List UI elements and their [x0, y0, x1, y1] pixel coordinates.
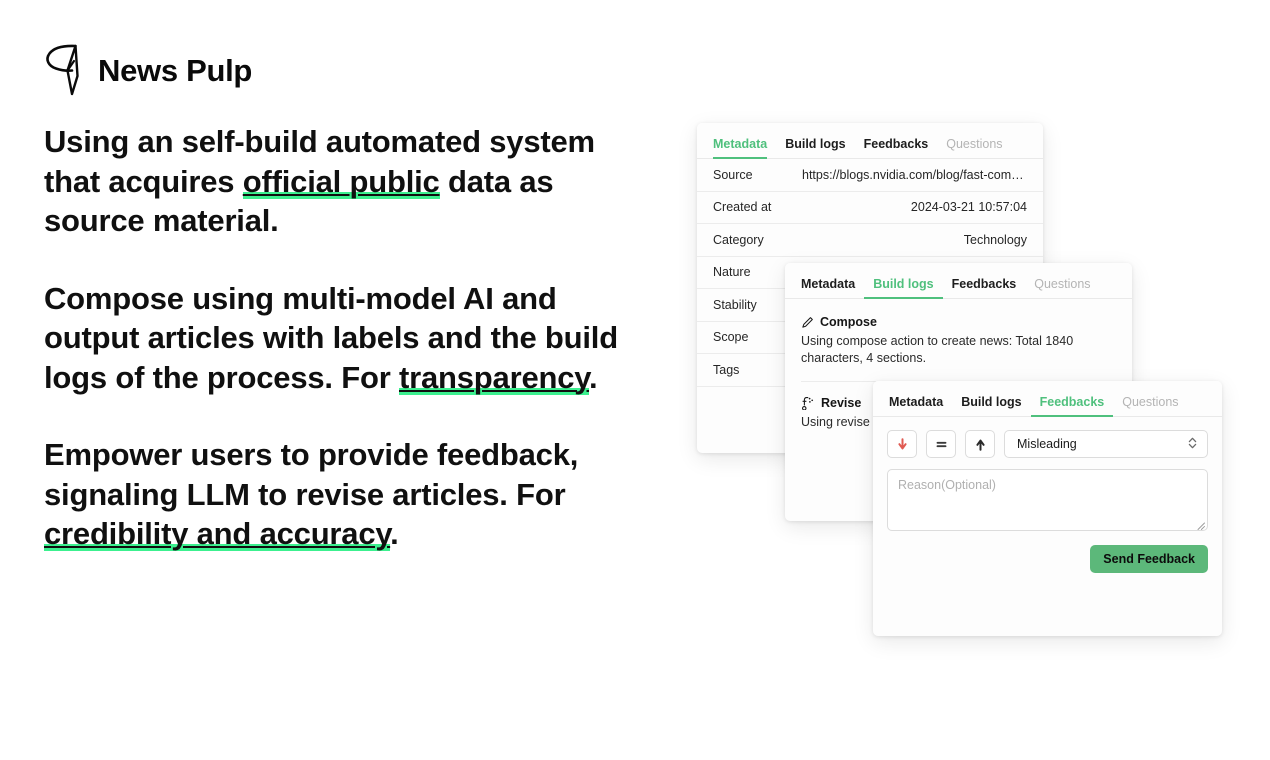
highlighted-phrase: credibility and accuracy	[44, 516, 390, 551]
metadata-key: Category	[713, 233, 764, 247]
tab-feedbacks[interactable]: Feedbacks	[943, 278, 1026, 299]
tab-feedbacks[interactable]: Feedbacks	[855, 138, 938, 159]
send-feedback-button[interactable]: Send Feedback	[1090, 545, 1208, 573]
tab-build-logs[interactable]: Build logs	[952, 396, 1030, 417]
build-log-entry-title: Compose	[820, 315, 877, 329]
build-log-entry-title: Revise	[821, 396, 861, 410]
brand-header: News Pulp	[44, 42, 252, 98]
metadata-row: Created at2024-03-21 10:57:04	[697, 192, 1043, 225]
tab-questions[interactable]: Questions	[1113, 396, 1187, 417]
tab-questions[interactable]: Questions	[1025, 278, 1099, 299]
reason-textarea[interactable]: Reason(Optional)	[887, 469, 1208, 531]
page-title: News Pulp	[98, 55, 252, 86]
buildlogs-panel-tabs: MetadataBuild logsFeedbacksQuestions	[785, 263, 1132, 299]
build-log-entry: ComposeUsing compose action to create ne…	[801, 315, 1116, 381]
copy-text: .	[589, 360, 597, 395]
metadata-row: CategoryTechnology	[697, 224, 1043, 257]
feedbacks-panel: MetadataBuild logsFeedbacksQuestions	[873, 381, 1222, 636]
copy-paragraph-3: Empower users to provide feedback, signa…	[44, 435, 654, 554]
copy-paragraph-2: Compose using multi-model AI and output …	[44, 279, 654, 398]
metadata-value: 2024-03-21 10:57:04	[911, 200, 1027, 214]
highlighted-phrase: transparency	[399, 360, 589, 395]
metadata-key: Tags	[713, 363, 739, 377]
arrow-down-icon	[896, 438, 909, 451]
pencil-icon	[801, 316, 814, 329]
upvote-button[interactable]	[965, 430, 995, 458]
tab-metadata[interactable]: Metadata	[889, 396, 952, 417]
tab-metadata[interactable]: Metadata	[713, 138, 776, 159]
feedback-actions: Send Feedback	[887, 545, 1208, 573]
marketing-copy: Using an self-build automated system tha…	[44, 122, 654, 554]
feedbacks-panel-tabs: MetadataBuild logsFeedbacksQuestions	[873, 381, 1222, 417]
reason-placeholder: Reason(Optional)	[898, 478, 996, 492]
metadata-key: Scope	[713, 330, 748, 344]
feedback-controls-row: Misleading	[887, 430, 1208, 458]
tab-build-logs[interactable]: Build logs	[864, 278, 942, 299]
revise-wand-icon	[801, 396, 815, 410]
feedback-type-value: Misleading	[1017, 437, 1077, 451]
resize-grip-icon[interactable]	[1196, 519, 1205, 528]
build-log-entry-text: Using compose action to create news: Tot…	[801, 333, 1091, 367]
metadata-panel-tabs: MetadataBuild logsFeedbacksQuestions	[697, 123, 1043, 159]
feedback-type-select[interactable]: Misleading	[1004, 430, 1208, 458]
metadata-key: Nature	[713, 265, 751, 279]
metadata-value: https://blogs.nvidia.com/blog/fast-compa…	[802, 168, 1027, 182]
metadata-value: Technology	[964, 233, 1027, 247]
tab-build-logs[interactable]: Build logs	[776, 138, 854, 159]
quill-pen-icon	[44, 42, 84, 98]
tab-questions[interactable]: Questions	[937, 138, 1011, 159]
copy-text: .	[390, 516, 398, 551]
highlighted-phrase: official public	[243, 164, 440, 199]
tab-metadata[interactable]: Metadata	[801, 278, 864, 299]
tab-feedbacks[interactable]: Feedbacks	[1031, 396, 1114, 417]
metadata-key: Source	[713, 168, 753, 182]
equals-icon	[935, 438, 948, 451]
metadata-key: Created at	[713, 200, 771, 214]
arrow-up-icon	[974, 438, 987, 451]
metadata-key: Stability	[713, 298, 757, 312]
copy-paragraph-1: Using an self-build automated system tha…	[44, 122, 654, 241]
copy-text: Empower users to provide feedback, signa…	[44, 437, 578, 512]
chevron-updown-icon	[1187, 436, 1198, 453]
metadata-row: Sourcehttps://blogs.nvidia.com/blog/fast…	[697, 159, 1043, 192]
downvote-button[interactable]	[887, 430, 917, 458]
build-log-entry-header: Compose	[801, 315, 1116, 329]
feedbacks-form: Misleading Reason(Optional) Send Feedbac…	[873, 417, 1222, 573]
neutral-button[interactable]	[926, 430, 956, 458]
